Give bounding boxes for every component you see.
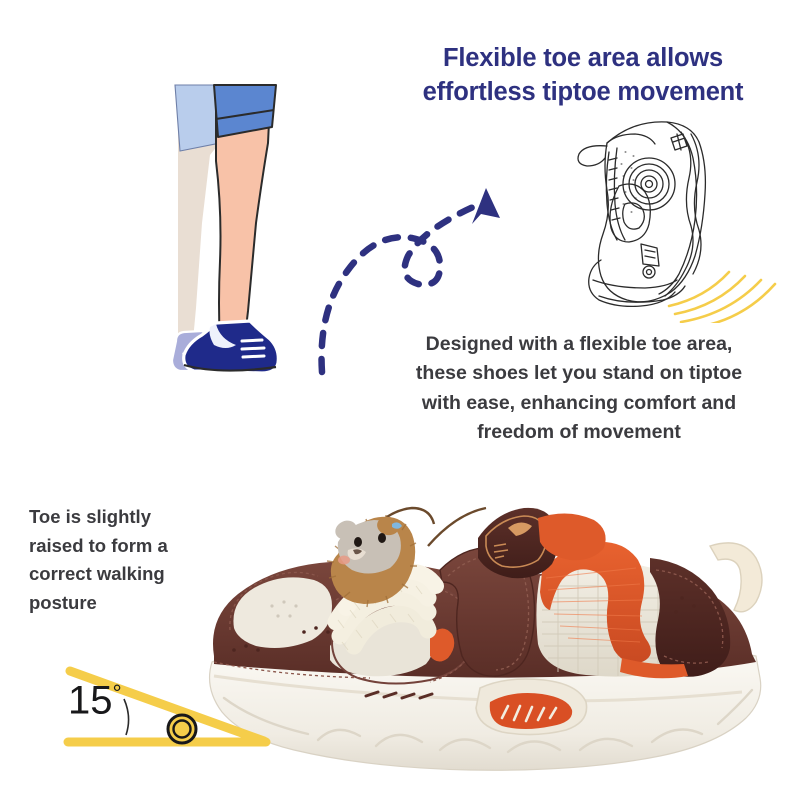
page-title: Flexible toe area allows effortless tipt… xyxy=(388,42,778,109)
front-leg-shape xyxy=(216,101,270,345)
collar-edge xyxy=(607,134,655,144)
buckle-dial-center xyxy=(647,270,652,275)
body-line-4: freedom of movement xyxy=(398,418,760,447)
medallion-center xyxy=(646,181,653,188)
charm-blush-left xyxy=(338,556,350,565)
angle-value-label: 15° xyxy=(68,678,122,723)
infographic-page: Flexible toe area allows effortless tipt… xyxy=(0,0,800,800)
buckle-slots xyxy=(645,250,655,258)
shoe-lineart-tiptoe xyxy=(545,108,780,323)
body-line-1: Designed with a flexible toe area, xyxy=(398,330,760,359)
ghost-shorts-shape xyxy=(175,85,220,151)
velcro-strap-inner xyxy=(623,203,645,229)
charm-eye-right xyxy=(378,533,386,543)
medallion-ring-3 xyxy=(635,170,663,198)
page-title-line-1: Flexible toe area allows xyxy=(388,42,778,76)
body-line-3: with ease, enhancing comfort and xyxy=(398,389,760,418)
degree-symbol: ° xyxy=(113,680,122,706)
charm-eye-left xyxy=(354,537,362,547)
shoe-heel-panel xyxy=(659,122,697,294)
angle-arc xyxy=(124,699,129,735)
motion-arcs xyxy=(669,272,775,323)
toe-seam xyxy=(593,280,677,288)
angle-diagram: 15° xyxy=(40,655,290,765)
buckle-dial xyxy=(643,266,655,278)
charm-cord xyxy=(428,508,486,546)
angle-number: 15 xyxy=(68,678,113,722)
pivot-circle-inner xyxy=(174,721,191,738)
pull-loop xyxy=(578,146,607,166)
leg-tiptoe-illustration xyxy=(158,83,298,388)
buckle-plate xyxy=(641,244,659,266)
body-paragraph: Designed with a flexible toe area, these… xyxy=(398,330,760,447)
eyestay-right xyxy=(614,148,625,240)
page-title-line-2: effortless tiptoe movement xyxy=(388,76,778,110)
heel-brown-panel xyxy=(650,558,730,677)
body-line-2: these shoes let you stand on tiptoe xyxy=(398,359,760,388)
arrow-head xyxy=(472,188,500,224)
